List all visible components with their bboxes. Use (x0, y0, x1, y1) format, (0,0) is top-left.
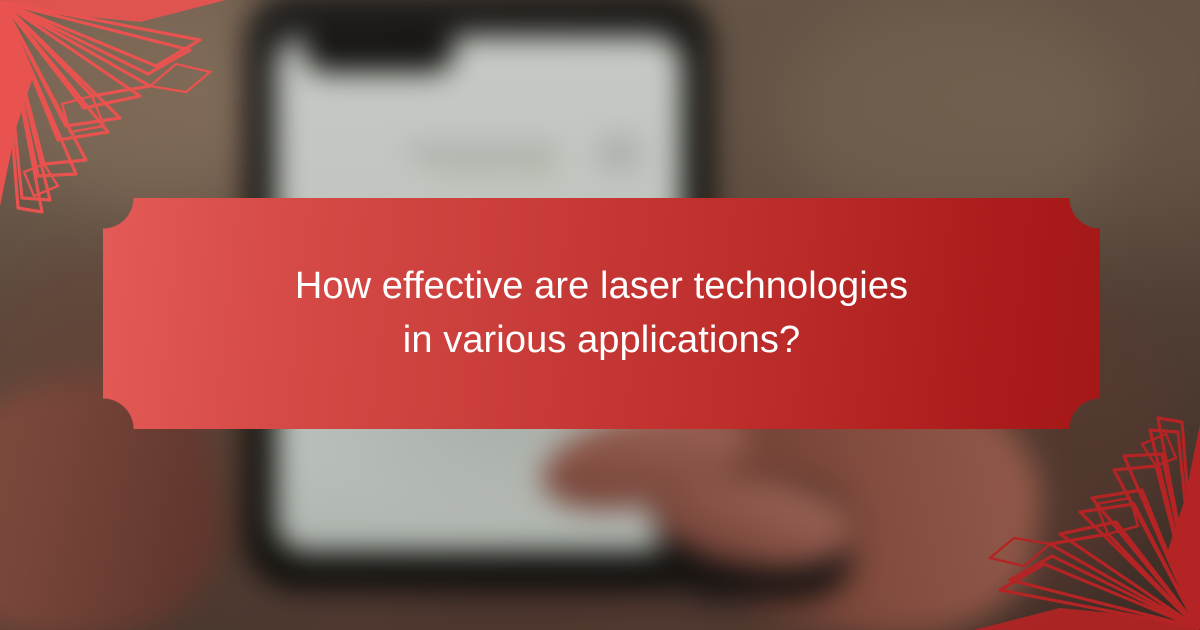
poster-canvas: How effective are laser technologies in … (0, 0, 1200, 630)
screen-content-line (426, 164, 522, 173)
screen-content-line (406, 146, 556, 157)
phone-notch (304, 30, 454, 72)
headline-text: How effective are laser technologies in … (262, 260, 942, 368)
screen-content-line (526, 159, 554, 175)
headline-banner: How effective are laser technologies in … (103, 198, 1100, 429)
screen-content-block (598, 136, 640, 170)
